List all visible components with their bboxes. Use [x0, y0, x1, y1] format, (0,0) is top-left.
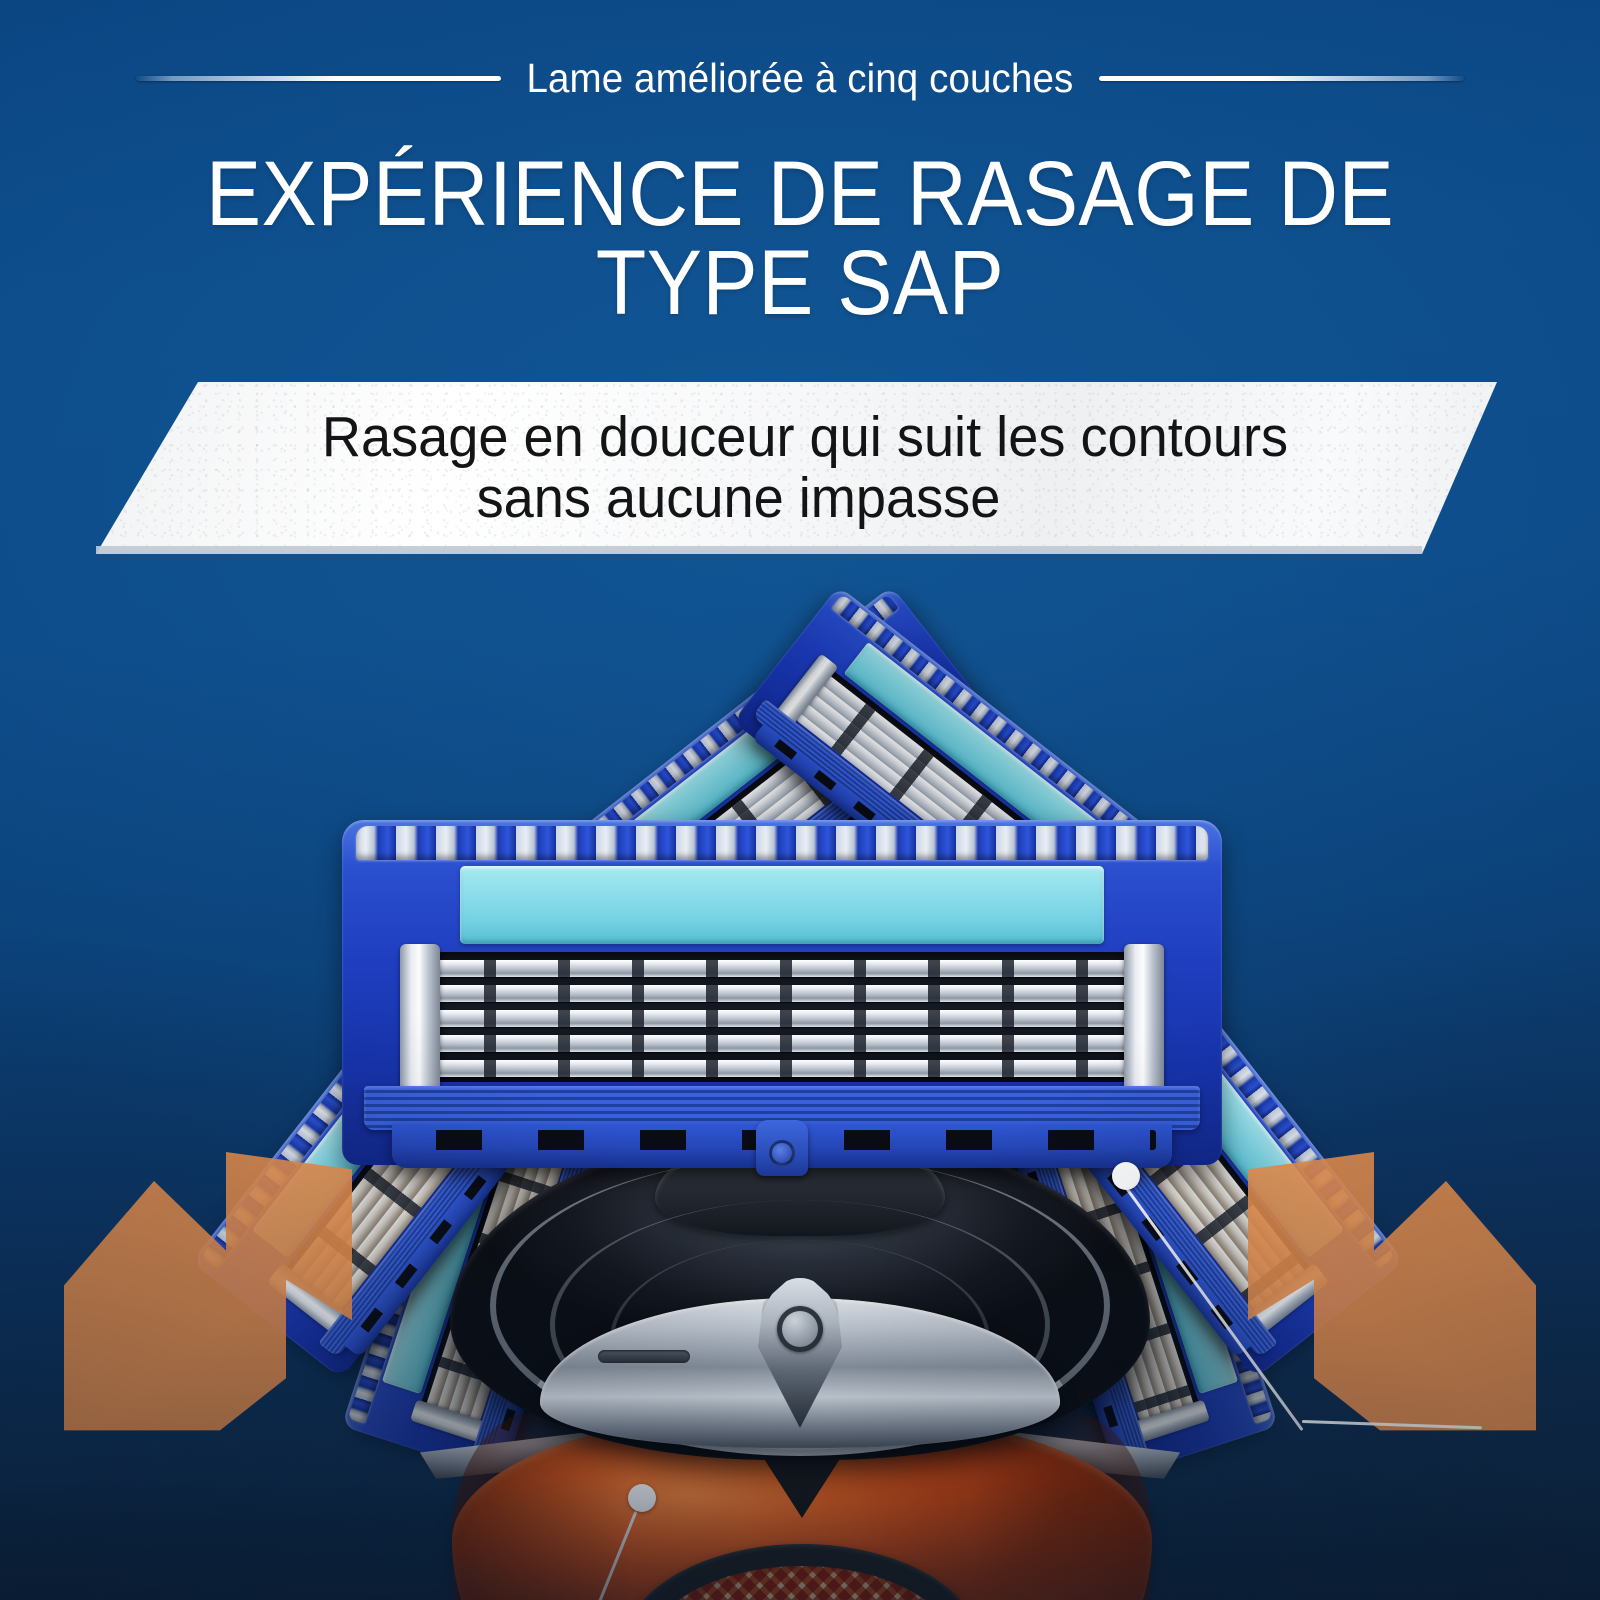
- cartridge-fin-bar: [356, 826, 1208, 860]
- blade-row: [438, 985, 1126, 1002]
- cartridge-nub: [756, 1120, 808, 1176]
- blade-row: [438, 1035, 1126, 1052]
- product-poster: Lame améliorée à cinq couches EXPÉRIENCE…: [0, 0, 1600, 1600]
- lubricating-strip: [460, 866, 1104, 944]
- banner-text-line-1: Rasage en douceur qui suit les contours: [322, 407, 1288, 468]
- decorative-rule-right-icon: [1099, 76, 1464, 81]
- banner-text: Rasage en douceur qui suit les contours …: [202, 392, 1409, 544]
- page-title-line-2: TYPE SAP: [179, 239, 1421, 328]
- callout-dot-pivot-hinge: [1112, 1162, 1140, 1190]
- chrome-rail-right: [1124, 944, 1164, 1104]
- tagline-banner: Rasage en douceur qui suit les contours …: [0, 382, 1600, 554]
- blade-row: [438, 960, 1126, 977]
- banner-text-line-2: sans aucune impasse: [477, 468, 1134, 529]
- eyebrow-row: Lame améliorée à cinq couches: [0, 58, 1600, 99]
- front-cartridge: [342, 820, 1222, 1165]
- blade-row: [438, 1060, 1126, 1077]
- razor-pivot-head: [392, 1130, 1208, 1490]
- blade-cage: [438, 952, 1126, 1082]
- page-title: EXPÉRIENCE DE RASAGE DE TYPE SAP: [179, 150, 1421, 328]
- chrome-rail-left: [400, 944, 440, 1104]
- decorative-rule-left-icon: [136, 76, 501, 81]
- callout-dot-handle-grip: [628, 1484, 656, 1512]
- grip-waffle-texture: [644, 1566, 960, 1600]
- page-title-line-1: EXPÉRIENCE DE RASAGE DE: [179, 150, 1421, 239]
- eyebrow-text: Lame améliorée à cinq couches: [519, 58, 1081, 99]
- blade-row: [438, 1010, 1126, 1027]
